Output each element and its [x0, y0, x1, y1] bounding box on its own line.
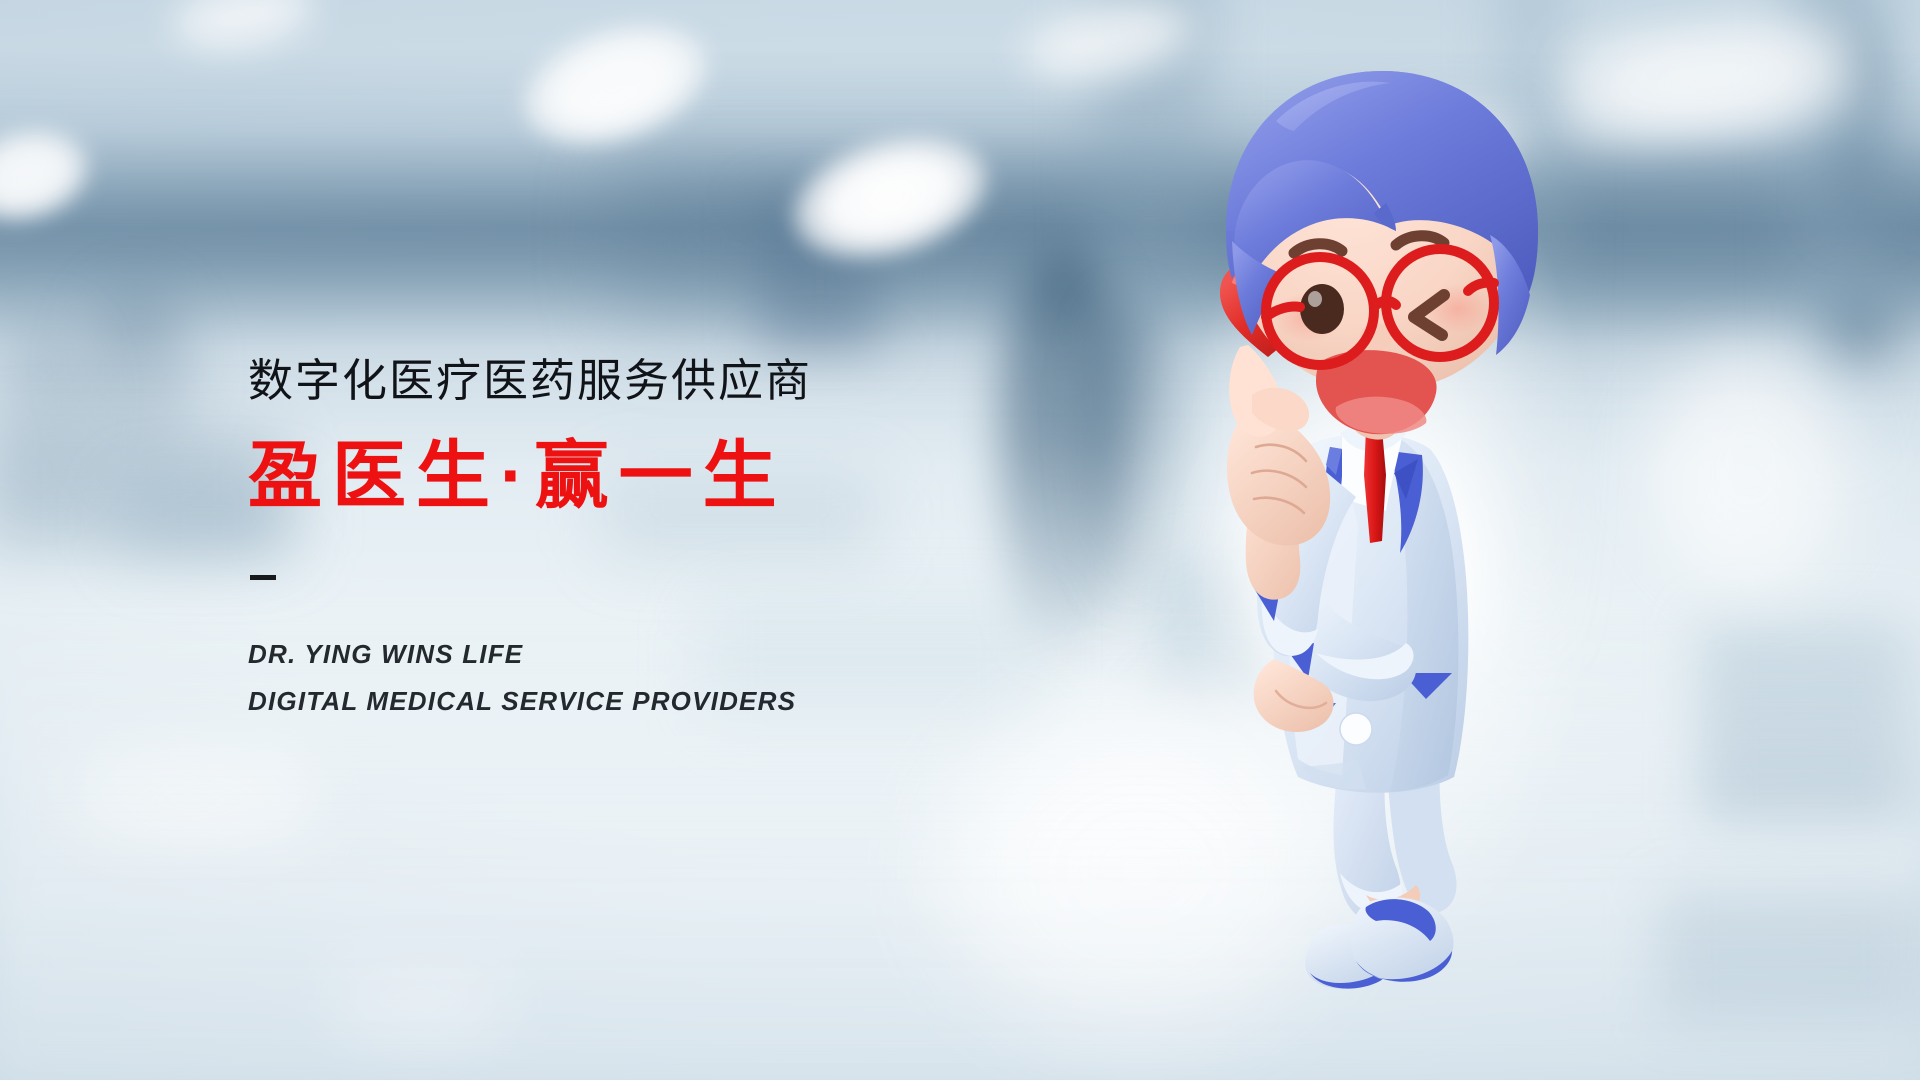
hero-copy-block: 数字化医疗医药服务供应商 盈医生·赢一生 DR. YING WINS LIFE …	[248, 358, 1068, 719]
hero-kicker: 数字化医疗医药服务供应商	[248, 358, 1068, 403]
hero-latin-subtitle: DR. YING WINS LIFE DIGITAL MEDICAL SERVI…	[248, 638, 1068, 719]
latin-line-1: DR. YING WINS LIFE	[248, 638, 1068, 671]
latin-line-2: DIGITAL MEDICAL SERVICE PROVIDERS	[248, 685, 1068, 718]
divider-rule	[250, 575, 276, 580]
hero-banner: 数字化医疗医药服务供应商 盈医生·赢一生 DR. YING WINS LIFE …	[0, 0, 1920, 1080]
doctor-mascot-illustration	[1190, 55, 1610, 1035]
mascot-eye-open	[1300, 284, 1344, 334]
hero-headline: 盈医生·赢一生	[248, 439, 1068, 513]
